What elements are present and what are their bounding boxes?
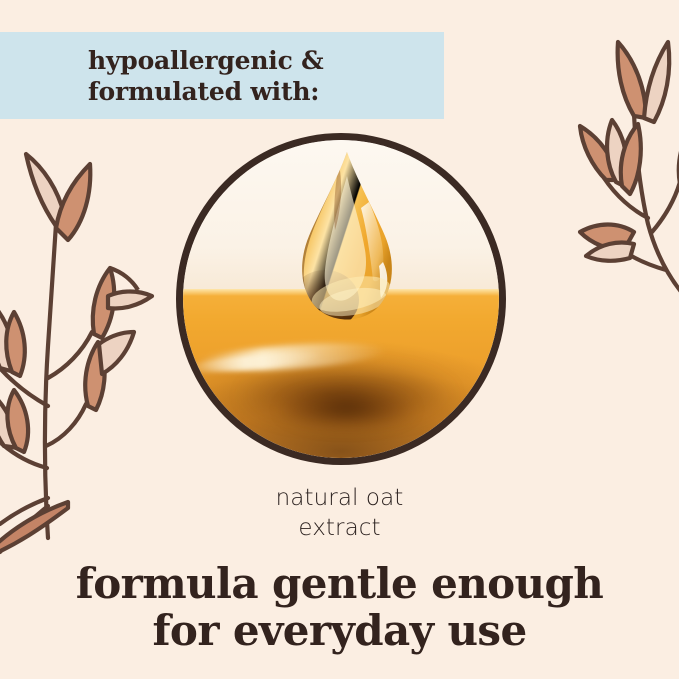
highlight-banner-text: hypoallergenic & formulated with: [88, 45, 323, 107]
highlight-banner: hypoallergenic & formulated with: [0, 32, 444, 119]
ingredient-caption: natural oat extract [0, 484, 679, 544]
oil-droplet-icon [295, 150, 399, 328]
oil-droplet-photo [183, 140, 499, 458]
ingredient-image-circle [176, 133, 506, 465]
oil-swirl [265, 384, 429, 435]
oat-sprig-right [560, 18, 679, 308]
tagline: formula gentle enough for everyday use [0, 560, 679, 655]
promo-image: hypoallergenic & formulated with: [0, 0, 679, 679]
